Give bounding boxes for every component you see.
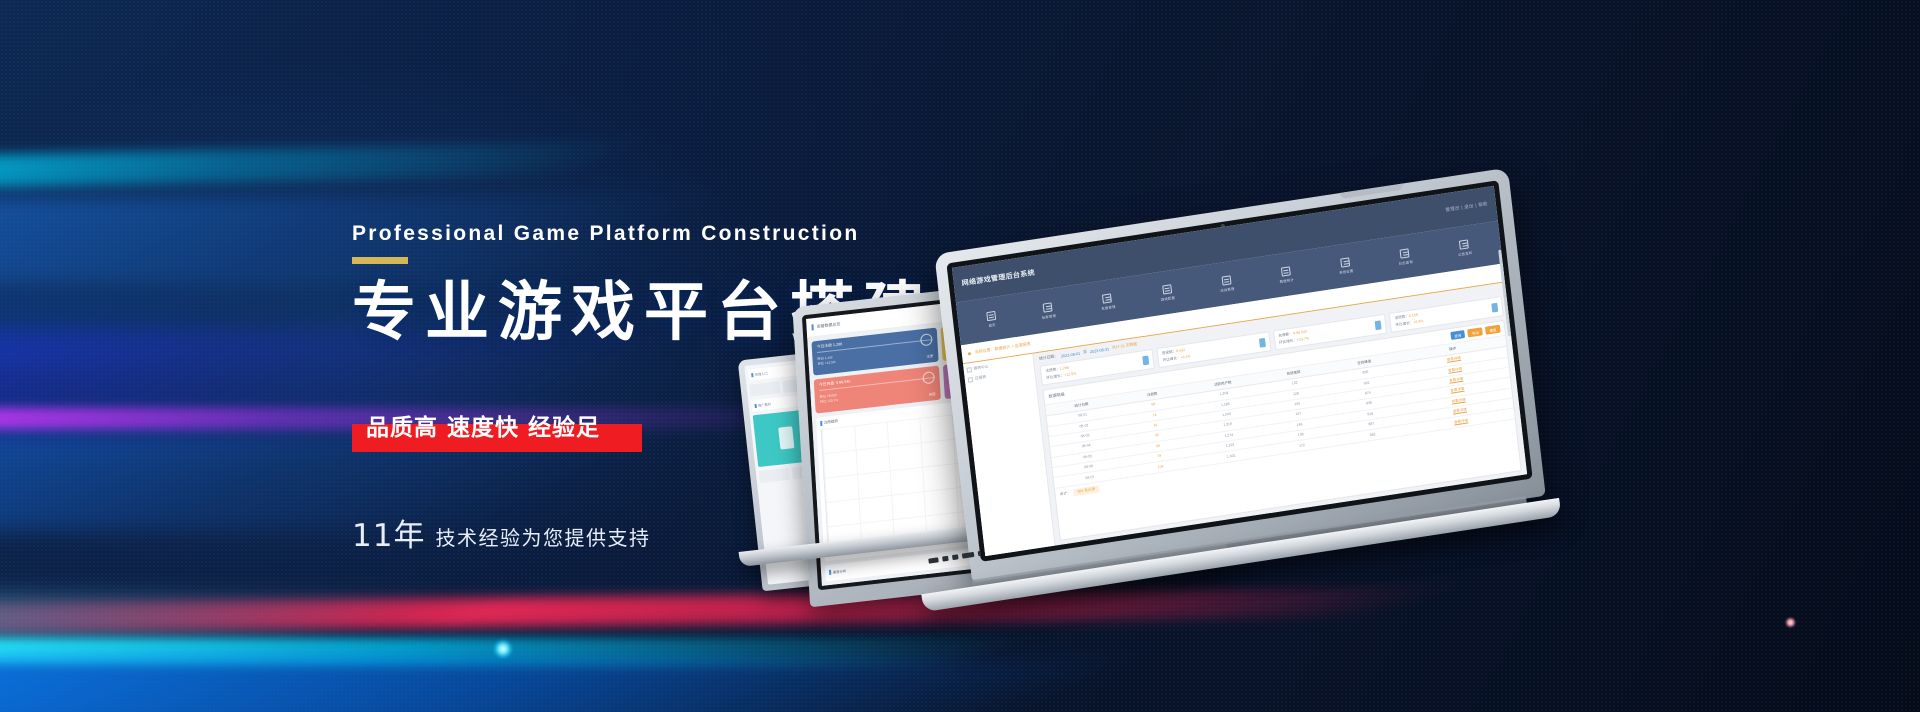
login-stat-icon [1259, 338, 1266, 348]
table-title: 数据明细 [1048, 392, 1065, 400]
toolbar-label: 游戏配置 [1160, 294, 1175, 301]
stat-label: 登录数： [1162, 349, 1177, 355]
filter-date-to[interactable]: 2023-08-31 [1090, 347, 1110, 354]
light-streak-cyan-pale [0, 598, 434, 646]
config-icon [1162, 284, 1172, 294]
stat-value: 1,286 [1060, 366, 1069, 371]
filter-date-from[interactable]: 2023-08-01 [1061, 351, 1081, 358]
accent-bar-icon [811, 324, 813, 330]
breadcrumb-dot-icon [968, 352, 971, 355]
port-icon [962, 551, 975, 558]
toolbar-item-config[interactable]: 游戏配置 [1159, 283, 1175, 301]
stat-card-text: 充值额：￥96,540 环比增长：+23.7% [1278, 329, 1309, 345]
stat-value: 8,432 [1176, 348, 1185, 353]
wallet-icon [1102, 293, 1112, 303]
gift-icon [1221, 275, 1231, 285]
light-streak-blue-bottom [0, 660, 1139, 712]
side-mini-tile [749, 381, 780, 396]
experience-years: 11年 [352, 518, 425, 554]
toolbar-item-players[interactable]: 玩家管理 [1040, 301, 1056, 319]
filter-middle: 至 [1083, 350, 1087, 356]
feature-badge: 品质高 速度快 经验足 [352, 408, 642, 452]
stat-label: 充值额： [1278, 332, 1293, 338]
front-laptop-bezel: 网络游戏管理后台系统 管理员 | 退出 | 帮助 首页 玩家管理 [946, 180, 1532, 562]
port-icon [928, 557, 939, 563]
reset-button[interactable]: 重置 [1485, 325, 1501, 335]
money-stat-icon [1375, 320, 1382, 330]
badge-label: 品质高 速度快 经验足 [366, 408, 642, 448]
toolbar-label: 日志查询 [1398, 258, 1413, 265]
toolbar-label: 玩家管理 [1041, 312, 1056, 319]
experience-text: 技术经验为您提供支持 [435, 526, 650, 550]
breadcrumb-text: 当前位置：数据统计 > 运营报表 [974, 341, 1031, 355]
toolbar-label: 首页 [988, 322, 996, 328]
toolbar-item-notice[interactable]: 公告发布 [1456, 239, 1472, 257]
user-icon [1043, 302, 1053, 312]
back-app-title: 运营数据总览 [816, 321, 840, 330]
light-streak-cyan-bright [0, 638, 1034, 668]
stat-card-text: 活跃数：5,108 环比增长：+5.4% [1394, 312, 1423, 328]
port-icon [978, 550, 982, 555]
stat-value: +5.4% [1413, 319, 1424, 325]
stat-card-name: 充值 [929, 391, 936, 397]
toolbar-item-recharge[interactable]: 充值管理 [1100, 292, 1116, 310]
device-mockup-group: 快捷入口 推广素材 [760, 228, 1880, 628]
toolbar-label: 活动管理 [1220, 285, 1235, 292]
toolbar-item-stats[interactable]: 数据统计 [1278, 265, 1294, 283]
app-user-menu[interactable]: 管理员 | 退出 | 帮助 [1445, 201, 1488, 213]
front-laptop-screen: 网络游戏管理后台系统 管理员 | 退出 | 帮助 首页 玩家管理 [952, 186, 1527, 556]
gold-underline-rule [352, 257, 408, 264]
stat-label: 环比增长： [1279, 338, 1297, 345]
footer-label: 合计： [1060, 490, 1071, 497]
stat-value: +23.7% [1297, 336, 1310, 342]
app-brand-title: 网络游戏管理后台系统 [961, 268, 1035, 289]
footer-value: 584 条记录 [1073, 485, 1099, 496]
port-icon [942, 555, 949, 561]
home-icon [986, 310, 996, 320]
stat-label: 注册数： [1045, 367, 1060, 373]
stat-value: +12.5% [1064, 372, 1077, 378]
toolbar-label: 充值管理 [1101, 303, 1116, 310]
toolbar-item-logs[interactable]: 日志查询 [1397, 248, 1413, 266]
stat-label: 活跃数： [1394, 314, 1409, 320]
stat-label: 环比增长： [1395, 321, 1413, 328]
glow-dot-icon [494, 640, 512, 658]
toolbar-label: 系统设置 [1339, 267, 1354, 274]
toolbar-item-home[interactable]: 首页 [986, 310, 997, 327]
toolbar-item-settings[interactable]: 系统设置 [1338, 257, 1354, 275]
toolbar-item-activity[interactable]: 活动管理 [1219, 274, 1235, 292]
stat-card-text: 注册数：1,286 环比增长：+12.5% [1045, 365, 1076, 381]
stat-value: +8.1% [1180, 354, 1191, 360]
active-stat-icon [1491, 302, 1498, 312]
list-icon [1400, 248, 1410, 258]
stat-card-text: 登录数：8,432 环比增长：+8.1% [1162, 347, 1191, 363]
hero-banner: Professional Game Platform Construction … [0, 0, 1920, 712]
light-streak-cyan-top [0, 142, 647, 192]
gear-icon [1340, 257, 1350, 267]
stat-value: 5,108 [1409, 313, 1418, 318]
user-stat-icon [1142, 355, 1149, 365]
filter-prefix: 统计日期： [1039, 354, 1058, 362]
port-icon [952, 554, 959, 560]
toolbar-label: 公告发布 [1458, 249, 1473, 256]
stat-value: ￥96,540 [1292, 330, 1307, 336]
chart-icon [1281, 266, 1291, 276]
toolbar-label: 数据统计 [1279, 276, 1294, 283]
bell-icon [1459, 239, 1469, 249]
stat-label: 环比增长： [1046, 373, 1064, 380]
stat-label: 环比增长： [1163, 356, 1181, 363]
side-caption-left [759, 468, 790, 483]
export-button[interactable]: 导出 [1468, 327, 1484, 337]
stat-card-name: 注册 [926, 353, 933, 359]
filter-suffix: 共计 31 天数据 [1112, 342, 1138, 351]
query-button[interactable]: 查询 [1450, 330, 1466, 340]
